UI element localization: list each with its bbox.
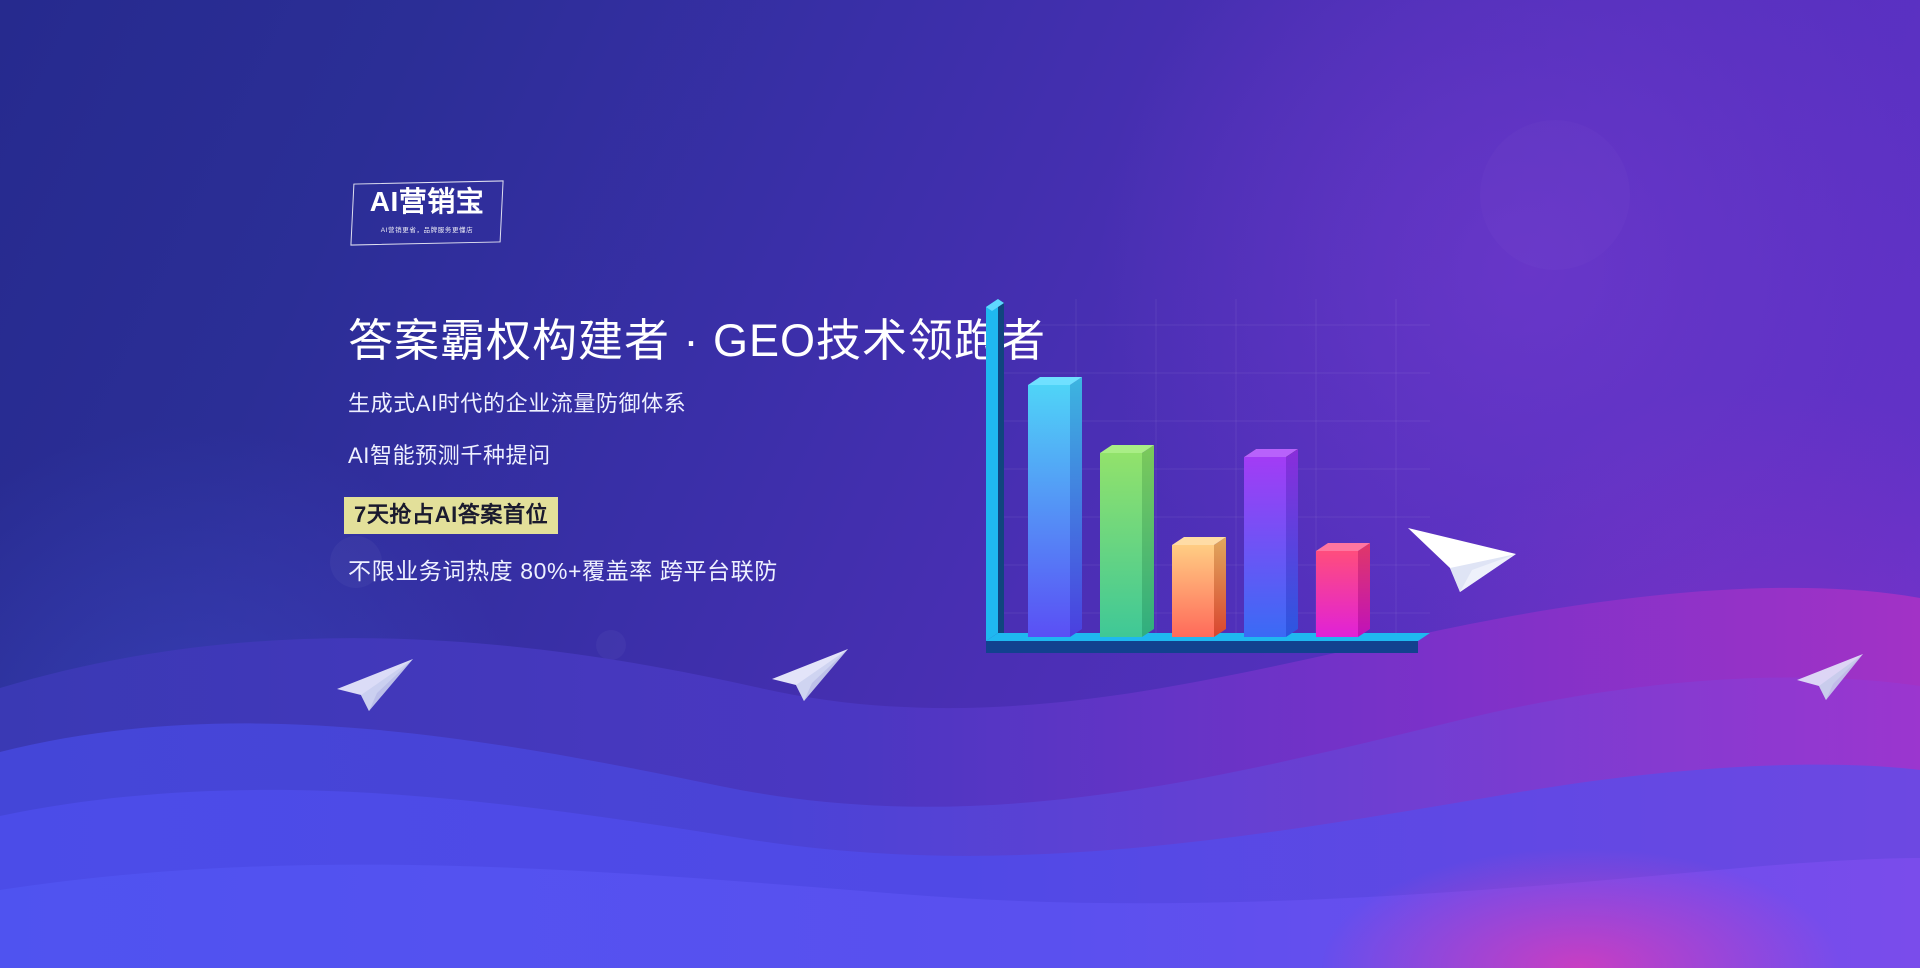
- hero-highlight-badge: 7天抢占AI答案首位: [344, 497, 558, 534]
- brand-logo[interactable]: AI营销宝 AI营销更省，品牌服务更懂店: [352, 182, 502, 244]
- paper-plane-icon: [335, 655, 415, 715]
- bar-1: [1028, 377, 1082, 637]
- bar-5: [1316, 543, 1370, 637]
- bar-2: [1100, 445, 1154, 637]
- decorative-circle: [1480, 120, 1630, 270]
- paper-plane-icon: [1795, 650, 1865, 704]
- chart-y-axis: [986, 299, 1004, 641]
- paper-plane-icon: [770, 645, 850, 705]
- hero-banner: AI营销宝 AI营销更省，品牌服务更懂店 答案霸权构建者 · GEO技术领跑者 …: [0, 0, 1920, 968]
- bar-group: [1028, 377, 1370, 637]
- logo-tagline: AI营销更省，品牌服务更懂店: [352, 224, 502, 234]
- bar-chart: [960, 285, 1440, 665]
- bar-4: [1244, 449, 1298, 637]
- logo-wordmark: AI营销宝: [352, 188, 502, 216]
- bar-chart-svg: [960, 285, 1440, 665]
- bar-3: [1172, 537, 1226, 637]
